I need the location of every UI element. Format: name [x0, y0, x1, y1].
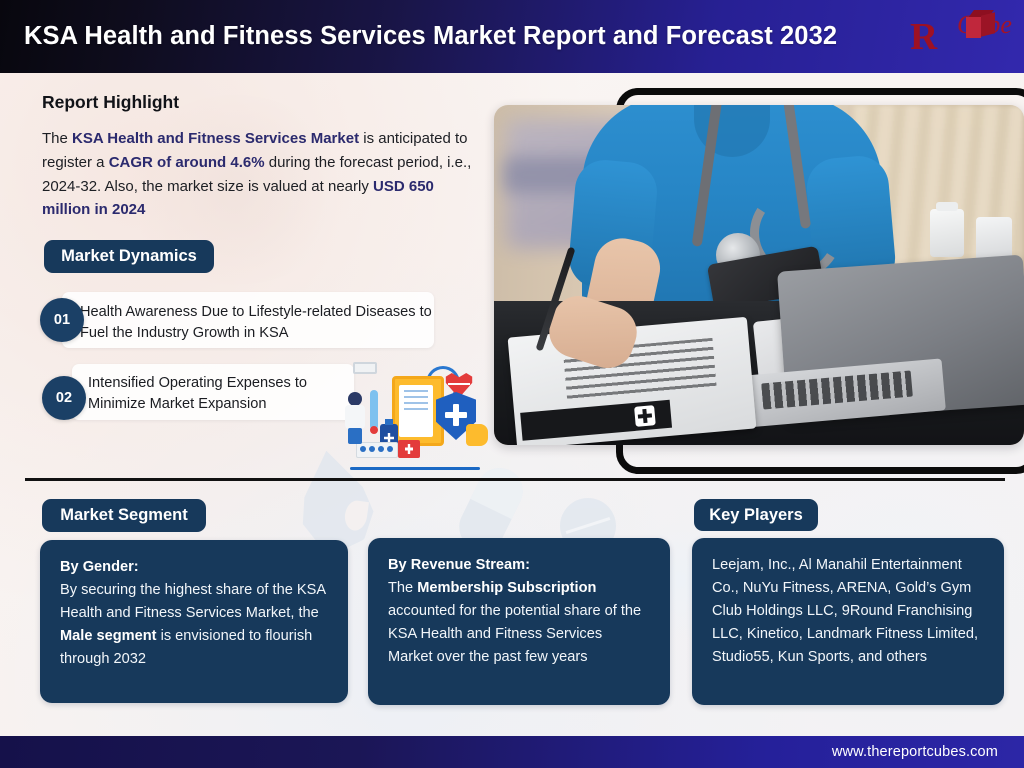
report-highlight-title: Report Highlight: [42, 92, 179, 113]
brand-logo[interactable]: Я Cube: [910, 8, 1006, 66]
footer-website-url[interactable]: www.thereportcubes.com: [832, 744, 998, 760]
section-divider: [25, 478, 1005, 481]
key-players-text: Leejam, Inc., Al Manahil Entertainment C…: [692, 538, 1004, 683]
page-title: KSA Health and Fitness Services Market R…: [24, 22, 837, 51]
hero-photo-healthcare-worker: [494, 105, 1024, 445]
illustration-baseline: [350, 467, 480, 470]
doctor-figure-icon: [344, 392, 366, 444]
thumbs-up-icon: [466, 424, 488, 446]
dynamics-item-2-badge: 02: [42, 376, 86, 420]
page-header: KSA Health and Fitness Services Market R…: [0, 0, 1024, 73]
logo-cube-icon: [966, 10, 996, 40]
segment-card-revenue-body: The Membership Subscription accounted fo…: [388, 580, 641, 665]
dynamics-item-1-text: Health Awareness Due to Lifestyle-relate…: [80, 302, 436, 344]
dynamics-item-1-badge: 01: [40, 298, 84, 342]
page-footer: www.thereportcubes.com: [0, 736, 1024, 768]
pill-blister-icon: [356, 442, 398, 458]
medical-illustration: [340, 368, 490, 474]
dynamics-item-2-text: Intensified Operating Expenses to Minimi…: [88, 373, 350, 415]
segment-card-revenue: By Revenue Stream: The Membership Subscr…: [368, 538, 670, 705]
report-highlight-body: The KSA Health and Fitness Services Mark…: [42, 127, 474, 222]
segment-card-gender: By Gender: By securing the highest share…: [40, 540, 348, 703]
thermometer-icon: [370, 390, 378, 430]
chip-key-players: Key Players: [694, 499, 818, 531]
infographic-page: KSA Health and Fitness Services Market R…: [0, 0, 1024, 768]
key-players-card: Leejam, Inc., Al Manahil Entertainment C…: [692, 538, 1004, 705]
segment-card-revenue-heading: By Revenue Stream:: [388, 557, 530, 573]
logo-r-mark: Я: [910, 18, 937, 56]
chip-market-segment: Market Segment: [42, 499, 206, 532]
first-aid-kit-icon: [398, 440, 420, 458]
segment-card-gender-heading: By Gender:: [60, 559, 139, 575]
clipboard-clamp-icon: [353, 362, 377, 374]
segment-card-gender-body: By securing the highest share of the KSA…: [60, 582, 325, 667]
chip-market-dynamics: Market Dynamics: [44, 240, 214, 273]
